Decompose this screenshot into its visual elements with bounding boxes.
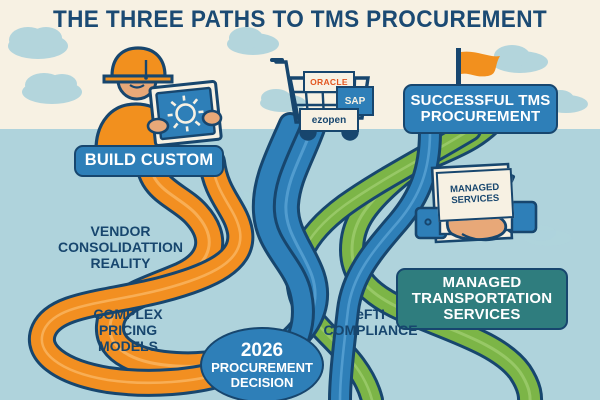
managed-services-contract-card: MANAGED SERVICES	[436, 168, 515, 222]
milestone-complex-pricing-models: COMPLEX PRICING MODELS	[73, 303, 183, 359]
mts-line1: MANAGED	[412, 275, 553, 291]
cart-box-ezopen-label: ezopen	[312, 115, 346, 126]
vendor-line2: CONSOLIDATTION	[58, 240, 183, 256]
successful-tms-line2: PROCUREMENT	[410, 109, 550, 125]
successful-tms-line1: SUCCESSFUL TMS	[410, 93, 550, 109]
mts-line3: SERVICES	[412, 307, 553, 323]
pricing-line2: PRICING	[93, 323, 162, 339]
infographic-canvas: THE THREE PATHS TO TMS PROCUREMENT BUILD…	[0, 0, 600, 400]
milestone-efti-compliance: eFTI COMPLIANCE	[318, 303, 423, 343]
cart-box-ezopen: ezopen	[299, 108, 359, 132]
milestone-vendor-consolidation-reality: VENDOR CONSOLIDATTION REALITY	[48, 219, 193, 277]
mts-line2: TRANSPORTATION	[412, 291, 553, 307]
vendor-line1: VENDOR	[58, 224, 183, 240]
path-label-build-custom[interactable]: BUILD CUSTOM	[74, 145, 224, 177]
decision-line2: DECISION	[211, 376, 313, 391]
managed-services-card-line2: SERVICES	[450, 194, 500, 207]
page-title: THE THREE PATHS TO TMS PROCUREMENT	[18, 6, 582, 34]
decision-line1: PROCUREMENT	[211, 361, 313, 376]
pricing-line3: MODELS	[93, 339, 162, 355]
cart-box-sap-label: SAP	[345, 96, 366, 107]
decision-node-2026[interactable]: 2026 PROCUREMENT DECISION	[200, 327, 324, 400]
decision-year: 2026	[211, 340, 313, 361]
efti-line1: eFTI	[323, 307, 417, 323]
vendor-line3: REALITY	[58, 256, 183, 272]
path-label-successful-tms-procurement[interactable]: SUCCESSFUL TMS PROCUREMENT	[403, 84, 558, 134]
pricing-line1: COMPLEX	[93, 307, 162, 323]
build-custom-text: BUILD CUSTOM	[85, 152, 214, 170]
efti-line2: COMPLIANCE	[323, 323, 417, 339]
